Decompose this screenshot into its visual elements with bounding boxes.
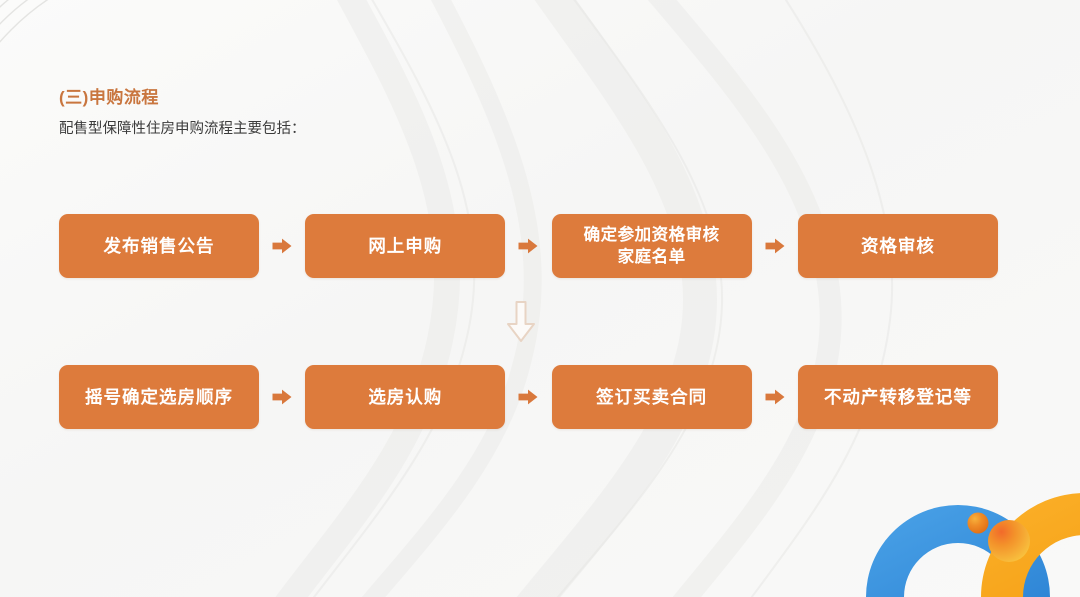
flow-step-3-label-line1: 确定参加资格审核: [584, 224, 720, 246]
flow-row-1: 发布销售公告 网上申购 确定参加资格审核 家庭名单: [59, 214, 998, 278]
flow-row-2: 摇号确定选房顺序 选房认购 签订买卖合同: [59, 365, 998, 429]
arrow-right-icon: [764, 235, 786, 257]
flow-step-7[interactable]: 签订买卖合同: [552, 365, 752, 429]
flow-step-5[interactable]: 摇号确定选房顺序: [59, 365, 259, 429]
flow-step-8[interactable]: 不动产转移登记等: [798, 365, 998, 429]
flow-step-5-label: 摇号确定选房顺序: [85, 386, 233, 409]
flow-step-2[interactable]: 网上申购: [305, 214, 505, 278]
flow-step-2-label: 网上申购: [368, 235, 442, 258]
flow-step-8-label: 不动产转移登记等: [824, 386, 972, 409]
arrow-right-icon: [271, 235, 293, 257]
arrow-right-icon: [517, 386, 539, 408]
flow-step-6-label: 选房认购: [368, 386, 442, 409]
page-subtitle: 配售型保障性住房申购流程主要包括：: [59, 118, 306, 140]
arrow-right-icon: [517, 235, 539, 257]
page-title: (三)申购流程: [59, 86, 306, 110]
arrow-down-icon: [505, 300, 537, 344]
slide-header: (三)申购流程 配售型保障性住房申购流程主要包括：: [59, 86, 306, 140]
flow-step-3-label-line2: 家庭名单: [584, 246, 720, 268]
slide-canvas: (三)申购流程 配售型保障性住房申购流程主要包括： 发布销售公告 网上申购: [0, 0, 1080, 597]
flow-step-7-label: 签订买卖合同: [596, 386, 707, 409]
flow-step-4[interactable]: 资格审核: [798, 214, 998, 278]
flow-step-3-text: 确定参加资格审核 家庭名单: [584, 224, 720, 268]
flow-step-3[interactable]: 确定参加资格审核 家庭名单: [552, 214, 752, 278]
flow-step-4-label: 资格审核: [861, 235, 935, 258]
flow-step-1-label: 发布销售公告: [104, 235, 215, 258]
arrow-right-icon: [764, 386, 786, 408]
flow-step-6[interactable]: 选房认购: [305, 365, 505, 429]
arrow-right-icon: [271, 386, 293, 408]
flow-step-1[interactable]: 发布销售公告: [59, 214, 259, 278]
